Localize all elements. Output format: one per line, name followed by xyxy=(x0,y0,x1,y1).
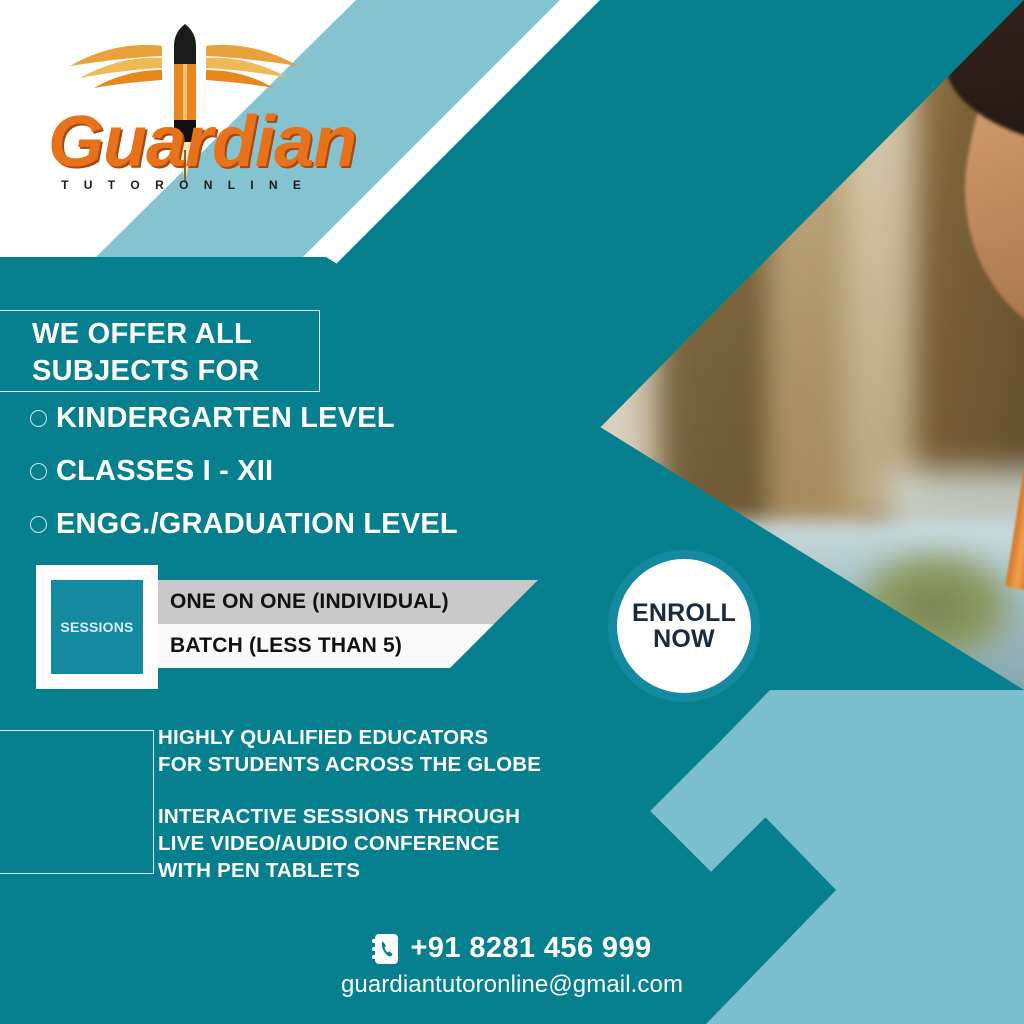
session-option-individual: ONE ON ONE (INDIVIDUAL) xyxy=(158,580,538,624)
level-label: CLASSES I - XII xyxy=(56,457,273,486)
feature-item: HIGHLY QUALIFIED EDUCATORS FOR STUDENTS … xyxy=(158,725,588,778)
circle-bullet-icon xyxy=(30,410,47,427)
features-list: HIGHLY QUALIFIED EDUCATORS FOR STUDENTS … xyxy=(158,725,588,910)
list-item: ENGG./GRADUATION LEVEL xyxy=(30,510,590,539)
circle-bullet-icon xyxy=(30,516,47,533)
enroll-now-button[interactable]: ENROLL NOW xyxy=(608,550,760,702)
circle-bullet-icon xyxy=(30,463,47,480)
level-label: KINDERGARTEN LEVEL xyxy=(56,404,395,433)
phone-contact-icon xyxy=(372,934,398,964)
headline-line-1: WE OFFER ALL xyxy=(32,316,352,353)
level-label: ENGG./GRADUATION LEVEL xyxy=(56,510,458,539)
levels-list: KINDERGARTEN LEVEL CLASSES I - XII ENGG.… xyxy=(30,404,590,563)
headline-line-2: SUBJECTS FOR xyxy=(32,353,352,390)
feature-item: INTERACTIVE SESSIONS THROUGH LIVE VIDEO/… xyxy=(158,804,588,884)
list-item: KINDERGARTEN LEVEL xyxy=(30,404,590,433)
wing-right-icon xyxy=(206,40,302,94)
list-item: CLASSES I - XII xyxy=(30,457,590,486)
brand-tagline: T U T O R O N L I N E xyxy=(48,178,320,192)
session-option-label: BATCH (LESS THAN 5) xyxy=(170,634,402,658)
poster-canvas: Guardian T U T O R O N L I N E WE OFFER … xyxy=(0,0,1024,1024)
enroll-line-1: ENROLL xyxy=(632,600,736,626)
contact-footer: +91 8281 456 999 guardiantutoronline@gma… xyxy=(0,932,1024,999)
page-title: WE OFFER ALL SUBJECTS FOR xyxy=(32,316,352,390)
wing-left-icon xyxy=(66,40,162,94)
brand-name: Guardian xyxy=(48,106,320,178)
brand-logo[interactable]: Guardian T U T O R O N L I N E xyxy=(48,18,320,198)
email-address[interactable]: guardiantutoronline@gmail.com xyxy=(0,971,1024,999)
sessions-badge: SESSIONS xyxy=(36,565,158,689)
session-option-batch: BATCH (LESS THAN 5) xyxy=(158,624,494,668)
session-option-label: ONE ON ONE (INDIVIDUAL) xyxy=(170,590,449,614)
features-frame xyxy=(0,730,154,874)
enroll-line-2: NOW xyxy=(653,626,715,652)
sessions-label: SESSIONS xyxy=(60,619,133,635)
phone-number[interactable]: +91 8281 456 999 xyxy=(410,932,651,965)
